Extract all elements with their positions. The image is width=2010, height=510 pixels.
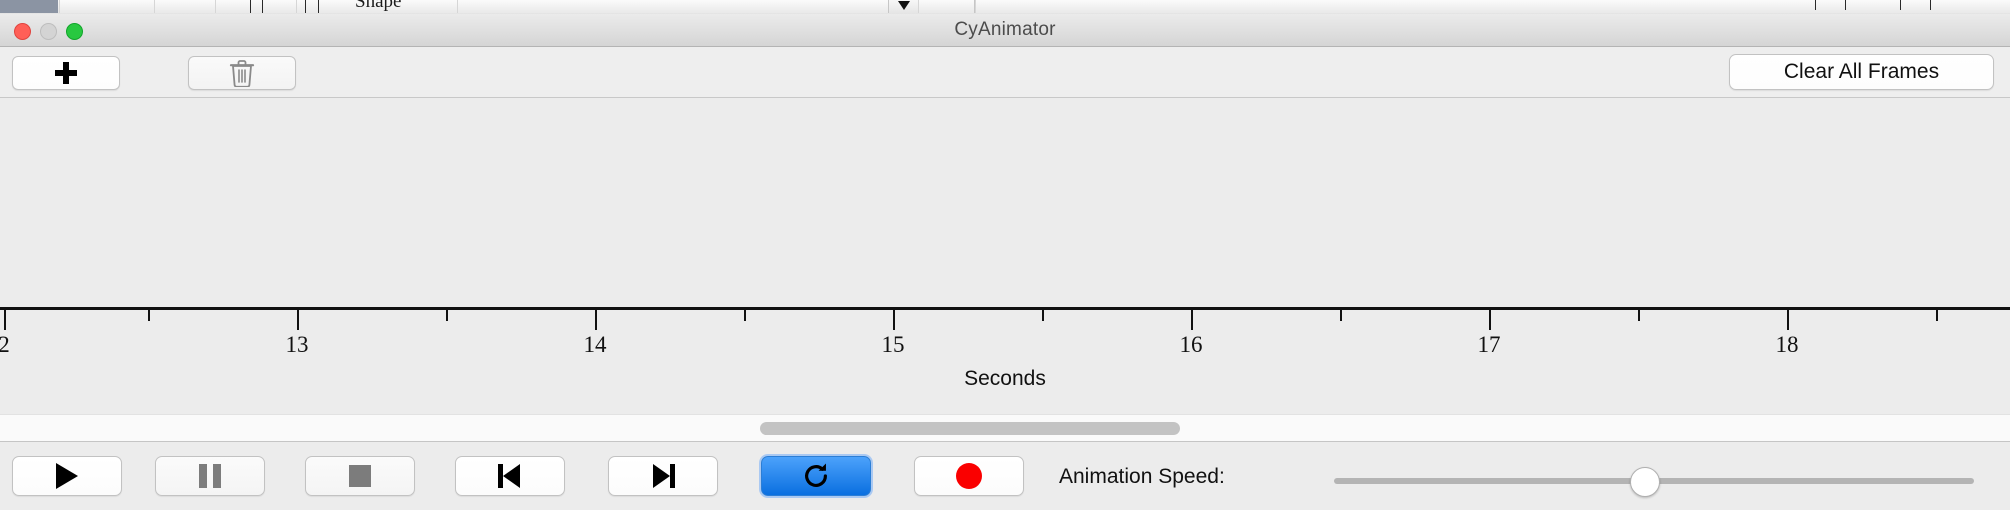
- axis-tick-label: 13: [286, 332, 309, 358]
- axis-tick-label: 14: [584, 332, 607, 358]
- skip-forward-icon: [651, 464, 675, 488]
- axis-tick-minor: [1638, 310, 1640, 321]
- background-window-segment: [918, 0, 975, 13]
- slider-thumb[interactable]: [1630, 467, 1660, 497]
- animation-speed-slider[interactable]: [1334, 467, 1974, 495]
- axis-tick-label: 2: [0, 332, 10, 358]
- title-bar: CyAnimator: [0, 14, 2010, 47]
- horizontal-scrollbar[interactable]: [0, 414, 2010, 442]
- pause-button[interactable]: [155, 456, 265, 496]
- pause-icon: [199, 464, 221, 488]
- delete-frame-button[interactable]: [188, 56, 296, 90]
- axis-title: Seconds: [0, 367, 2010, 391]
- background-window-segment: [154, 0, 216, 13]
- clear-all-frames-button[interactable]: Clear All Frames: [1729, 54, 1994, 90]
- timeline-axis: 2131415161718 Seconds: [0, 307, 2010, 412]
- background-window-segment: [975, 0, 2010, 13]
- axis-tick-label: 17: [1478, 332, 1501, 358]
- background-window-segment: [215, 0, 297, 13]
- background-window-titlebar-fragment: [0, 0, 58, 13]
- play-icon: [56, 463, 78, 489]
- plus-icon: [55, 62, 77, 84]
- axis-tick-label: 16: [1180, 332, 1203, 358]
- axis-tick-major: [1489, 310, 1491, 330]
- axis-line: [0, 307, 2010, 310]
- window-title: CyAnimator: [0, 19, 2010, 41]
- axis-tick-minor: [148, 310, 150, 321]
- background-window-arrow-icon: [898, 1, 910, 10]
- background-window-strip: Shape: [0, 0, 2010, 15]
- skip-backward-button[interactable]: [455, 456, 565, 496]
- axis-tick-minor: [744, 310, 746, 321]
- skip-forward-button[interactable]: [608, 456, 718, 496]
- stop-button[interactable]: [305, 456, 415, 496]
- record-icon: [956, 463, 982, 489]
- axis-tick-major: [4, 310, 6, 330]
- axis-tick-major: [1191, 310, 1193, 330]
- toolbar: Clear All Frames: [0, 47, 2010, 98]
- clear-all-frames-label: Clear All Frames: [1784, 60, 1939, 84]
- axis-tick-minor: [1936, 310, 1938, 321]
- transport-bar: Animation Speed:: [0, 441, 2010, 510]
- axis-tick-label: 15: [882, 332, 905, 358]
- background-window-segment: [457, 0, 889, 13]
- loop-button[interactable]: [761, 456, 871, 496]
- skip-backward-icon: [498, 464, 522, 488]
- axis-tick-minor: [446, 310, 448, 321]
- record-button[interactable]: [914, 456, 1024, 496]
- axis-tick-minor: [1042, 310, 1044, 321]
- background-window-segment: [59, 0, 155, 13]
- axis-tick-minor: [1340, 310, 1342, 321]
- animation-speed-label: Animation Speed:: [1059, 465, 1225, 489]
- axis-tick-label: 18: [1776, 332, 1799, 358]
- play-button[interactable]: [12, 456, 122, 496]
- stop-icon: [349, 465, 371, 487]
- axis-tick-major: [1787, 310, 1789, 330]
- add-frame-button[interactable]: [12, 56, 120, 90]
- cyanimator-window: Shape CyAnimator Clear All Frames: [0, 0, 2010, 510]
- background-window-label: Shape: [355, 0, 401, 13]
- timeline-track[interactable]: MCM1 MCM1 MCM1: [0, 98, 2010, 313]
- axis-tick-major: [595, 310, 597, 330]
- trash-icon: [229, 59, 255, 87]
- loop-icon: [801, 461, 831, 491]
- axis-tick-major: [893, 310, 895, 330]
- axis-tick-major: [297, 310, 299, 330]
- scrollbar-thumb[interactable]: [760, 422, 1180, 435]
